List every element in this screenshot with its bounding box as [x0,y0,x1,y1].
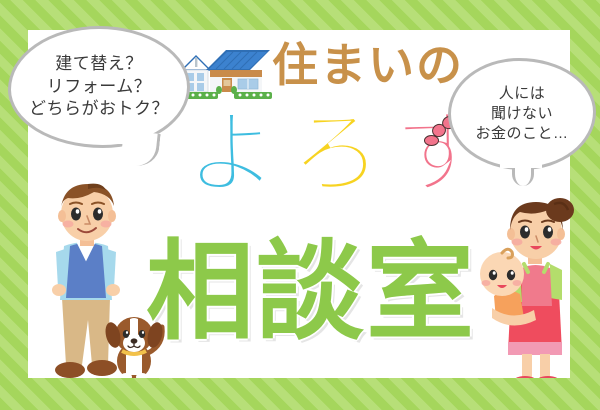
left-bubble-tail-mask [100,128,144,144]
title-line-soudanshitsu: 相談室 [146,238,476,346]
dog-illustration [100,305,172,383]
right-bubble-tail-mask [500,156,542,168]
poster-root: 住まいの よろす 相談室 建て替え？ リフォーム？ どちらがおトク？ 人には 聞… [0,0,600,410]
woman-with-baby-illustration [472,190,588,400]
right-bubble-text: 人には 聞けない お金のこと… [475,84,568,145]
left-speech-bubble: 建て替え？ リフォーム？ どちらがおトク？ [8,26,190,148]
title-kana-ro: ろ [290,103,394,205]
right-speech-bubble: 人には 聞けない お金のこと… [448,58,596,170]
title-kana-yo: よ [186,103,290,205]
house-with-solar-panels-icon [176,40,276,108]
left-bubble-text: 建て替え？ リフォーム？ どちらがおトク？ [29,53,169,122]
bottom-stripe-band [0,378,600,410]
title-line-sumaino: 住まいの [272,42,464,88]
